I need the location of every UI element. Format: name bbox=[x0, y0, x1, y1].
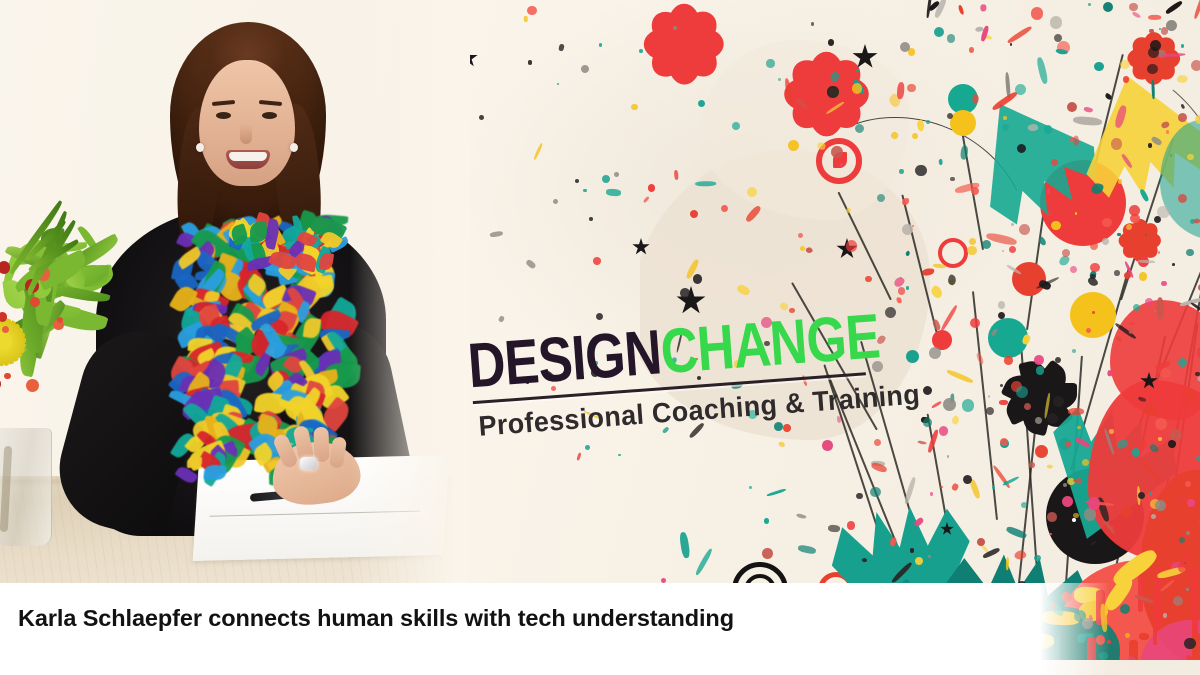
caption-bar-fade bbox=[1040, 583, 1110, 675]
smiling-mouth bbox=[226, 150, 270, 169]
teeth bbox=[229, 152, 267, 161]
eye-left bbox=[216, 112, 231, 119]
logo-word-design: DESIGN bbox=[466, 317, 664, 401]
nose bbox=[240, 124, 252, 144]
earring-left bbox=[196, 143, 204, 152]
caption-text: Karla Schlaepfer connects human skills w… bbox=[18, 605, 734, 632]
eye-right bbox=[262, 112, 277, 119]
flower-bouquet bbox=[0, 226, 126, 476]
banner-stage: DESIGNCHANGE Professional Coaching & Tra… bbox=[0, 0, 1200, 675]
earring-right bbox=[290, 143, 298, 152]
portrait-photo bbox=[0, 0, 470, 588]
diamond-ring bbox=[300, 457, 317, 470]
finger-3 bbox=[313, 427, 329, 463]
photo-edge-fade bbox=[350, 0, 470, 588]
